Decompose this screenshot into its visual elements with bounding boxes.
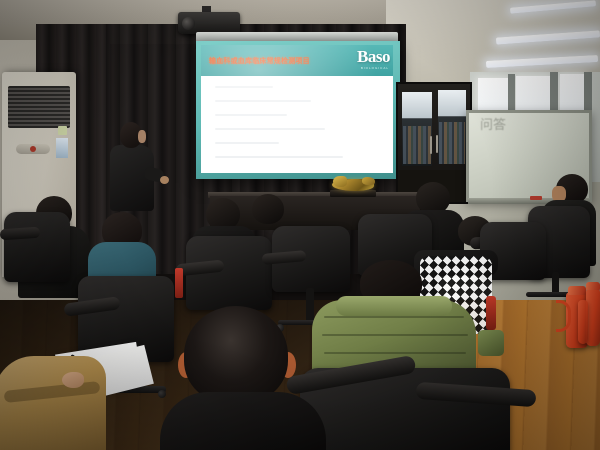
thermos-flask-icon: [586, 288, 600, 346]
audience-head: [252, 194, 284, 224]
thermos-cap: [568, 286, 586, 295]
projector-lens-icon: [182, 17, 195, 30]
slide-header-band: 输血科或血库临床常规检测项目 Baso BIOLOGICAL: [201, 45, 393, 76]
tan-coat: [0, 356, 106, 450]
air-conditioner-label: [56, 138, 68, 158]
air-conditioner-logo-dot: [30, 146, 36, 152]
office-chair-back: [4, 212, 70, 282]
jacket-seam: [324, 352, 466, 354]
slide-text-line: [215, 142, 279, 144]
office-chair-wheel: [158, 390, 166, 398]
slide-text-line: [215, 114, 287, 116]
foreground-attendee-head: [184, 306, 288, 404]
presenter-hand: [160, 176, 169, 184]
thermos-cap: [586, 282, 600, 290]
red-item: [175, 268, 183, 298]
jacket-collar: [336, 296, 452, 316]
whiteboard-marker-icon: [530, 196, 542, 200]
jacket-seam: [324, 316, 464, 318]
whiteboard-writing: 问答: [480, 118, 536, 158]
bookcase-handle: [430, 136, 432, 154]
slide-text-line: [215, 86, 273, 88]
foreground-attendee-shoulders: [160, 392, 326, 450]
brass-sculpture-icon: [332, 175, 374, 195]
green-bag: [478, 330, 504, 356]
sculpture-tail: [362, 177, 375, 185]
slide-text-line: [215, 128, 325, 130]
air-conditioner-vent: [8, 86, 70, 128]
slide-text-line: [215, 100, 311, 102]
office-chair-stem: [306, 288, 314, 322]
writing-hand: [62, 372, 84, 388]
sculpture-head: [333, 176, 347, 187]
bookcase-handle: [436, 135, 438, 153]
energy-label-sticker: [58, 126, 67, 135]
slide-text-line: [215, 156, 343, 158]
slide-title: 输血科或血库临床常规检测项目: [209, 56, 310, 66]
jacket-seam: [322, 334, 468, 336]
slide-body: [201, 76, 393, 173]
meeting-room-photo: 输血科或血库临床常规检测项目 Baso BIOLOGICAL 问答: [0, 0, 600, 450]
presenter-face: [138, 130, 146, 143]
sculpture-base: [330, 190, 376, 197]
books: [439, 122, 465, 164]
projection-screen-slide: 输血科或血库临床常规检测项目 Baso BIOLOGICAL: [201, 45, 393, 173]
red-item: [486, 296, 496, 330]
books: [403, 126, 431, 164]
thermos-flask-icon: [578, 300, 588, 344]
baso-logo: Baso: [357, 48, 390, 65]
baso-logo-subtext: BIOLOGICAL: [361, 66, 389, 70]
